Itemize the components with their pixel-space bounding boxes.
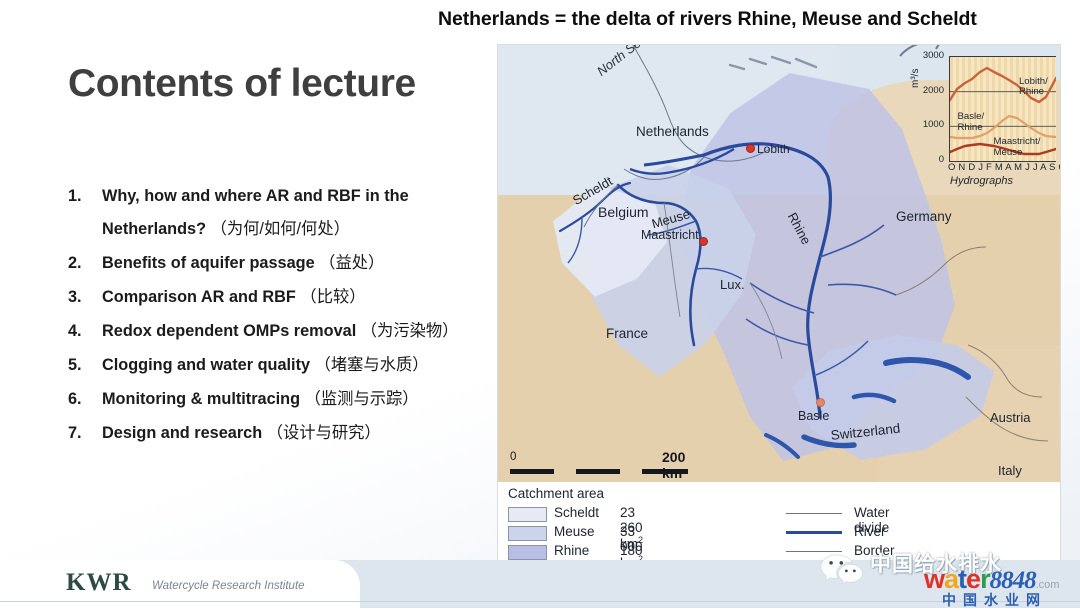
map-label-maastricht: Maastricht: [641, 228, 699, 242]
toc-item-number: 7.: [68, 417, 102, 450]
toc-item-text: Why, how and where AR and RBF in the Net…: [102, 180, 508, 246]
wechat-icon: [818, 552, 866, 584]
watermark-cn-bottom: 中国水业网: [942, 590, 1047, 610]
slide-canvas: Netherlands = the delta of rivers Rhine,…: [0, 0, 1080, 608]
toc-item: 6.Monitoring & multitracing （监测与示踪）: [68, 383, 508, 416]
toc-item-text: Monitoring & multitracing （监测与示踪）: [102, 383, 508, 416]
hydrograph-inset: m³/s 0100020003000 Lobith/RhineBasle/R: [912, 48, 1060, 193]
map-label-austria: Austria: [990, 410, 1030, 425]
toc-item: 1.Why, how and where AR and RBF in the N…: [68, 180, 508, 246]
kwr-logo: KWR: [66, 569, 132, 597]
toc-item-text: Redox dependent OMPs removal （为污染物）: [102, 315, 508, 348]
hydrograph-y-tick: 0: [914, 154, 944, 165]
toc-item-text: Benefits of aquifer passage （益处）: [102, 247, 508, 280]
toc-item: 7.Design and research （设计与研究）: [68, 417, 508, 450]
map-figure: North SeaNetherlandsLobithMaastrichtBelg…: [498, 45, 1060, 562]
legend-color-swatch: [508, 526, 547, 541]
slide-footer: KWR Watercycle Research Institute 中国给水排水…: [0, 560, 1080, 608]
map-body: North SeaNetherlandsLobithMaastrichtBelg…: [498, 45, 1060, 482]
scale-distance-label: 200 km: [662, 449, 685, 481]
kwr-tagline: Watercycle Research Institute: [152, 580, 305, 592]
toc-item: 3.Comparison AR and RBF （比较）: [68, 281, 508, 314]
toc-item-number: 4.: [68, 315, 102, 348]
legend-catchment-name: Scheldt: [554, 505, 599, 520]
legend-color-swatch: [508, 507, 547, 522]
city-dot-basle: [816, 398, 825, 407]
hydrograph-annotation: Basle/Rhine: [957, 112, 984, 133]
hydrograph-annotation: Lobith/Rhine: [1019, 77, 1048, 98]
scale-zero-label: 0: [510, 451, 516, 463]
map-label-italy: Italy: [998, 463, 1022, 478]
watermark-brand-letter: w: [924, 564, 944, 594]
toc-item: 4.Redox dependent OMPs removal （为污染物）: [68, 315, 508, 348]
toc-item-text: Comparison AR and RBF （比较）: [102, 281, 508, 314]
legend-catchment-name: Rhine: [554, 543, 589, 558]
table-of-contents: 1.Why, how and where AR and RBF in the N…: [68, 180, 508, 451]
toc-item-number: 1.: [68, 180, 102, 213]
legend-line-swatch: [786, 513, 842, 514]
hydrograph-y-tick: 3000: [914, 50, 944, 61]
hydrograph-y-tick: 2000: [914, 85, 944, 96]
hydrograph-y-tick: 1000: [914, 119, 944, 130]
legend-catchment-name: Meuse: [554, 524, 595, 539]
map-label-lux: Lux.: [720, 277, 745, 292]
toc-item-text: Clogging and water quality （堵塞与水质）: [102, 349, 508, 382]
city-dot-maastricht: [699, 237, 708, 246]
city-dot-lobith: [746, 144, 755, 153]
map-label-basle: Basle: [798, 409, 829, 423]
toc-item-number: 2.: [68, 247, 102, 280]
toc-item-number: 3.: [68, 281, 102, 314]
legend-symbol-name: River: [854, 524, 886, 539]
toc-item-number: 5.: [68, 349, 102, 382]
toc-item-text: Design and research （设计与研究）: [102, 417, 508, 450]
hydrograph-annotation: Maastricht/Meuse: [994, 137, 1041, 158]
legend-title: Catchment area: [508, 486, 604, 501]
hydrograph-caption: Hydrographs: [950, 175, 1013, 187]
toc-item: 2.Benefits of aquifer passage （益处）: [68, 247, 508, 280]
watermark: 中国给水排水 water8848.com 中国水业网: [814, 540, 1076, 606]
legend-line-swatch: [786, 531, 842, 534]
slide-header-title: Netherlands = the delta of rivers Rhine,…: [438, 8, 1078, 38]
toc-item: 5.Clogging and water quality （堵塞与水质）: [68, 349, 508, 382]
map-label-netherlands: Netherlands: [636, 124, 709, 139]
legend-color-swatch: [508, 545, 547, 560]
map-label-germany: Germany: [896, 209, 952, 224]
page-title: Contents of lecture: [68, 62, 416, 106]
map-label-france: France: [606, 326, 648, 341]
map-label-belgium: Belgium: [598, 204, 649, 220]
hydrograph-x-axis-labels: O N D J F M A M J J A S O N D: [948, 162, 1060, 173]
toc-item-number: 6.: [68, 383, 102, 416]
map-label-lobith: Lobith: [757, 142, 790, 156]
